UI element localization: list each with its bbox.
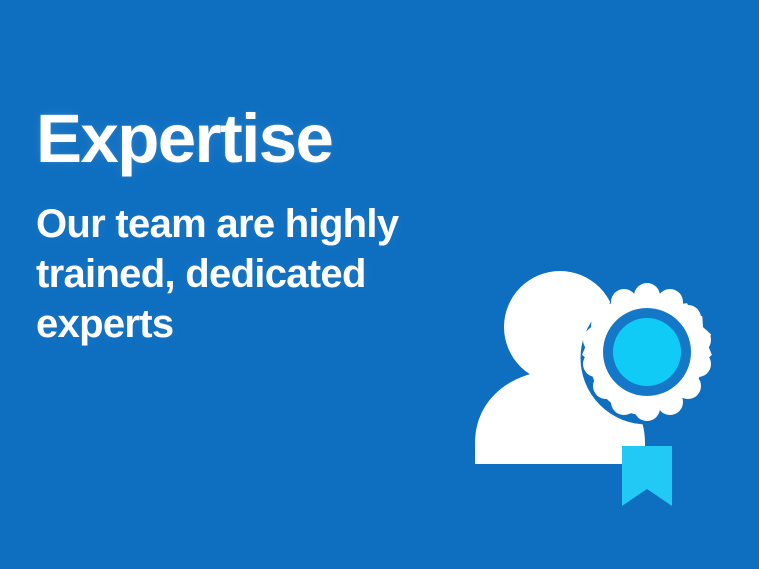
badge-center-icon xyxy=(603,308,691,396)
text-block: Expertise Our team are highly trained, d… xyxy=(36,104,466,349)
page-title: Expertise xyxy=(36,104,466,173)
subtitle-text: Our team are highly trained, dedicated e… xyxy=(36,173,456,349)
expertise-slide: Expertise Our team are highly trained, d… xyxy=(0,0,759,569)
badge-ribbon-icon xyxy=(622,446,672,506)
person-with-award-badge-icon xyxy=(455,258,725,523)
